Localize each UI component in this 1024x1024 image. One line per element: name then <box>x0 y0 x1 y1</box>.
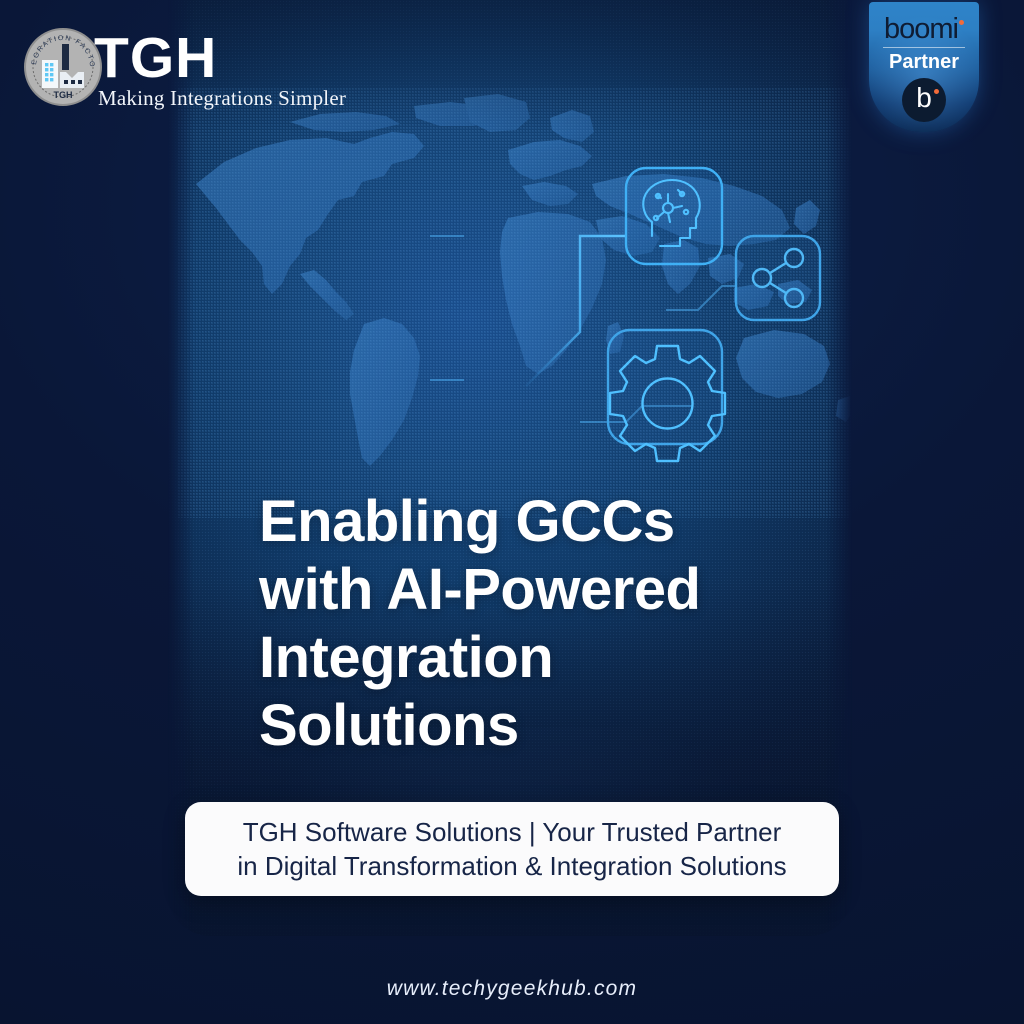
boomi-wordmark: boomi <box>869 15 979 44</box>
logo-wordmark: TGH <box>94 30 217 87</box>
gear-icon <box>608 330 725 461</box>
tagline-card: TGH Software Solutions | Your Trusted Pa… <box>185 802 839 896</box>
boomi-accent-dot-icon <box>959 20 964 25</box>
ai-brain-head-icon <box>626 168 722 264</box>
integration-factory-emblem-icon: INTEGRATION FACTORY <box>22 26 104 108</box>
badge-divider <box>883 47 965 48</box>
headline-line-3: Integration <box>259 624 819 692</box>
boomi-mark-circle: b <box>902 78 946 122</box>
boomi-mark-dot-icon <box>934 89 939 94</box>
marketing-poster: INTEGRATION FACTORY <box>0 0 1024 1024</box>
boomi-text: boomi <box>884 13 958 45</box>
headline-line-4: Solutions <box>259 692 819 760</box>
partner-label: Partner <box>869 52 979 72</box>
boomi-partner-badge[interactable]: boomi Partner b <box>869 2 979 132</box>
tagline-line-1: TGH Software Solutions | Your Trusted Pa… <box>201 815 823 849</box>
svg-text:TGH: TGH <box>54 90 73 100</box>
boomi-mark-letter: b <box>902 84 946 112</box>
logo-tagline: Making Integrations Simpler <box>98 86 346 111</box>
headline-line-2: with AI-Powered <box>259 556 819 624</box>
tgh-logo[interactable]: INTEGRATION FACTORY <box>22 24 322 112</box>
footer-website[interactable]: www.techygeekhub.com <box>0 977 1024 1001</box>
tagline-line-2: in Digital Transformation & Integration … <box>201 849 823 883</box>
headline-line-1: Enabling GCCs <box>259 488 819 556</box>
tech-icon-cluster <box>430 150 850 470</box>
headline: Enabling GCCs with AI-Powered Integratio… <box>259 488 819 760</box>
network-share-icon <box>736 236 820 320</box>
